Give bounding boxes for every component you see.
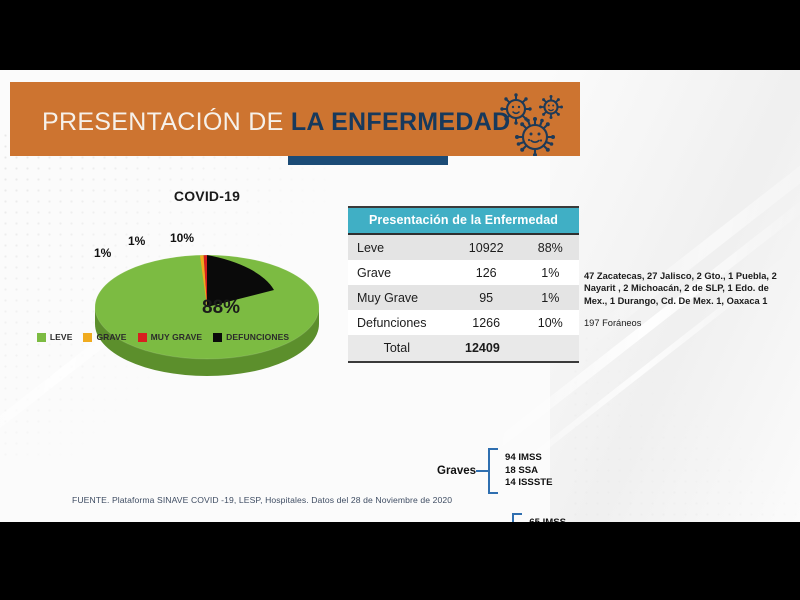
chart-title: COVID-19 [62,188,352,204]
cell-pct: 88% [522,241,579,255]
table-row: Leve 10922 88% [348,235,579,260]
cell-count: 1266 [451,316,522,330]
states-breakdown-text: 47 Zacatecas, 27 Jalisco, 2 Gto., 1 Pueb… [584,270,784,307]
cell-label: Grave [348,266,451,280]
foreign-cases-notes: 47 Zacatecas, 27 Jalisco, 2 Gto., 1 Pueb… [584,270,784,328]
page-title: PRESENTACIÓN DE LA ENFERMEDAD [42,108,510,137]
presentation-slide: PRESENTACIÓN DE LA ENFERMEDAD [0,70,800,522]
legend-swatch-defunciones [213,333,222,342]
graves-label: Graves [437,465,476,477]
graves-leader-line [476,470,488,472]
muy-graves-group: Muy graves 65 IMSS 25 SSA 05 ISSSTE [437,513,577,522]
table-row: Grave 126 1% [348,260,579,285]
cell-label: Leve [348,241,451,255]
pie-graphic: 1% 1% 10% 88% [62,212,352,402]
legend-label-leve: LEVE [50,332,73,342]
pie-label-leve: 88% [202,297,240,319]
legend-item-grave: GRAVE [83,332,126,342]
page-title-light: PRESENTACIÓN DE [42,108,291,136]
legend-swatch-muy-grave [138,333,147,342]
legend-label-muy-grave: MUY GRAVE [151,332,203,342]
screenshot-stage: PRESENTACIÓN DE LA ENFERMEDAD [0,0,800,600]
legend-item-defunciones: DEFUNCIONES [213,332,289,342]
cell-label: Defunciones [348,316,451,330]
virus-icon [490,92,570,156]
table-row: Muy Grave 95 1% [348,285,579,310]
cell-count: 95 [451,291,522,305]
legend-item-leve: LEVE [37,332,73,342]
table-row-total: Total 12409 [348,335,579,361]
disease-presentation-table: Presentación de la Enfermedad Leve 10922… [348,206,579,363]
cell-label: Muy Grave [348,291,451,305]
background-dot-pattern-right [570,300,800,522]
legend-swatch-grave [83,333,92,342]
muy-graves-bracket-icon [512,513,522,522]
graves-items: 94 IMSS 18 SSA 14 ISSSTE [505,452,552,490]
source-footnote: FUENTE. Plataforma SINAVE COVID -19, LES… [72,495,452,505]
table-bottom-rule [348,361,579,363]
graves-bracket-icon [488,448,498,494]
legend-label-defunciones: DEFUNCIONES [226,332,289,342]
cell-pct: 10% [522,316,579,330]
foraneos-count: 197 Foráneos [584,318,784,328]
header-accent-bar [288,156,448,165]
table-header: Presentación de la Enfermedad [348,208,579,233]
cell-count: 126 [451,266,522,280]
legend-item-muy-grave: MUY GRAVE [138,332,203,342]
page-title-bold: LA ENFERMEDAD [291,108,511,136]
header-band: PRESENTACIÓN DE LA ENFERMEDAD [10,82,580,156]
cell-count: 10922 [451,241,522,255]
cell-pct: 1% [522,291,579,305]
pie-label-grave: 1% [128,234,145,248]
muy-graves-items: 65 IMSS 25 SSA 05 ISSSTE [529,517,576,522]
pie-label-defunciones: 10% [170,231,194,245]
cell-pct: 1% [522,266,579,280]
table-row: Defunciones 1266 10% [348,310,579,335]
legend-label-grave: GRAVE [96,332,126,342]
graves-group: Graves 94 IMSS 18 SSA 14 ISSSTE [437,448,552,494]
covid-pie-chart: COVID-19 [62,188,352,400]
cell-total-label: Total [348,341,446,355]
pie-label-muy-grave: 1% [94,246,111,260]
legend-swatch-leve [37,333,46,342]
chart-legend: LEVE GRAVE MUY GRAVE DEFUNCIONES [18,332,308,342]
cell-total-count: 12409 [446,341,520,355]
